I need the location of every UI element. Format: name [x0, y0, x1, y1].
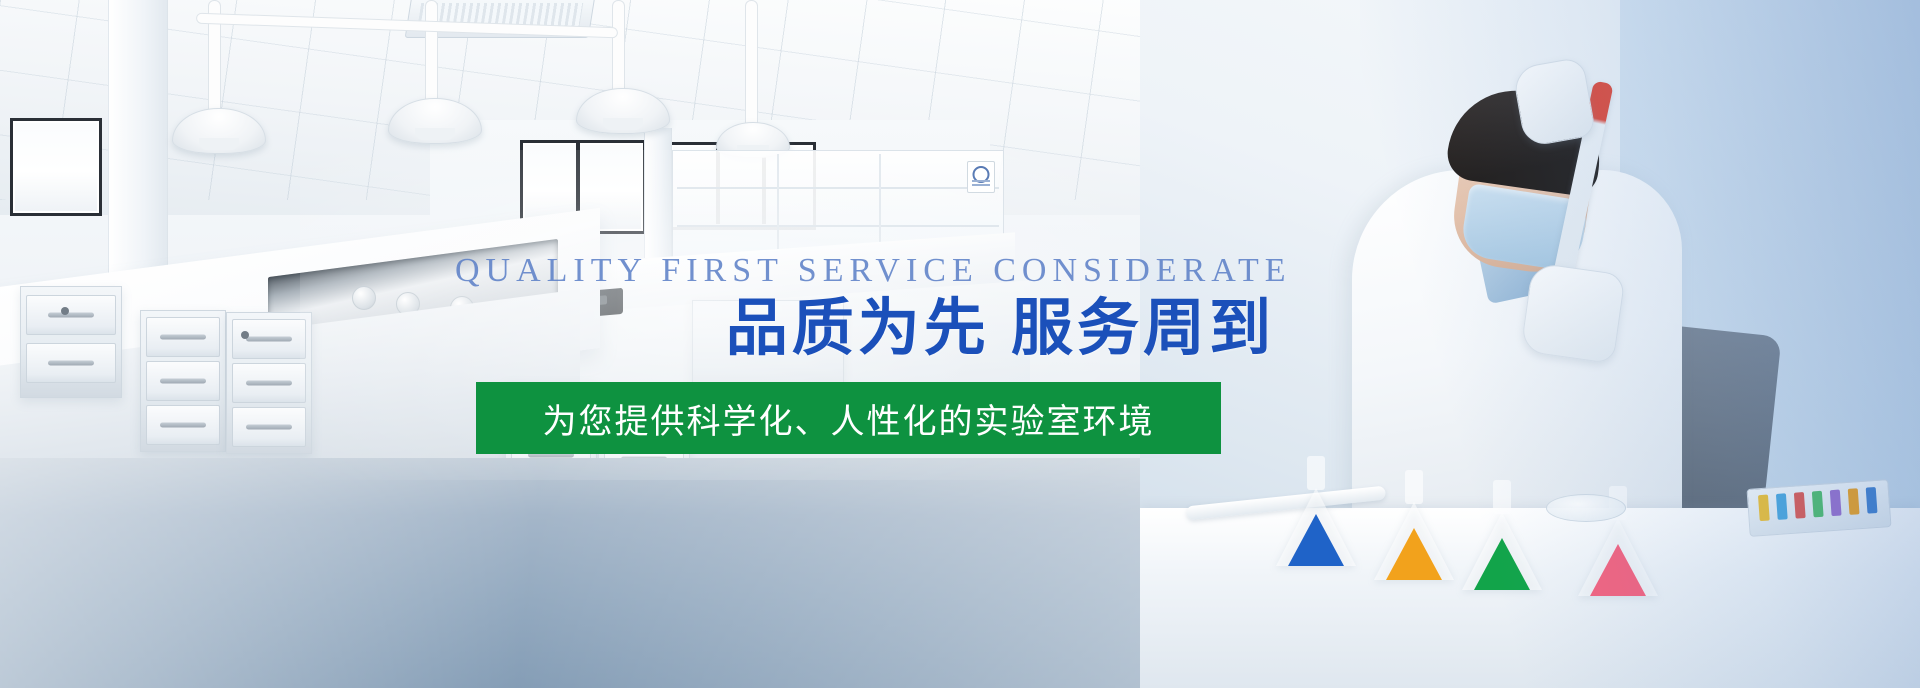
banner-headline: 品质为先 服务周到 [455, 292, 1275, 365]
banner-eyebrow-english: QUALITY FIRST SERVICE CONSIDERATE [455, 252, 1275, 290]
banner-subtitle-band: 为您提供科学化、人性化的实验室环境 [476, 382, 1221, 454]
banner-subtitle-text: 为您提供科学化、人性化的实验室环境 [543, 394, 1155, 443]
hero-banner: QUALITY FIRST SERVICE CONSIDERATE 品质为先 服… [0, 0, 1920, 688]
banner-copy: QUALITY FIRST SERVICE CONSIDERATE 品质为先 服… [0, 0, 1920, 688]
